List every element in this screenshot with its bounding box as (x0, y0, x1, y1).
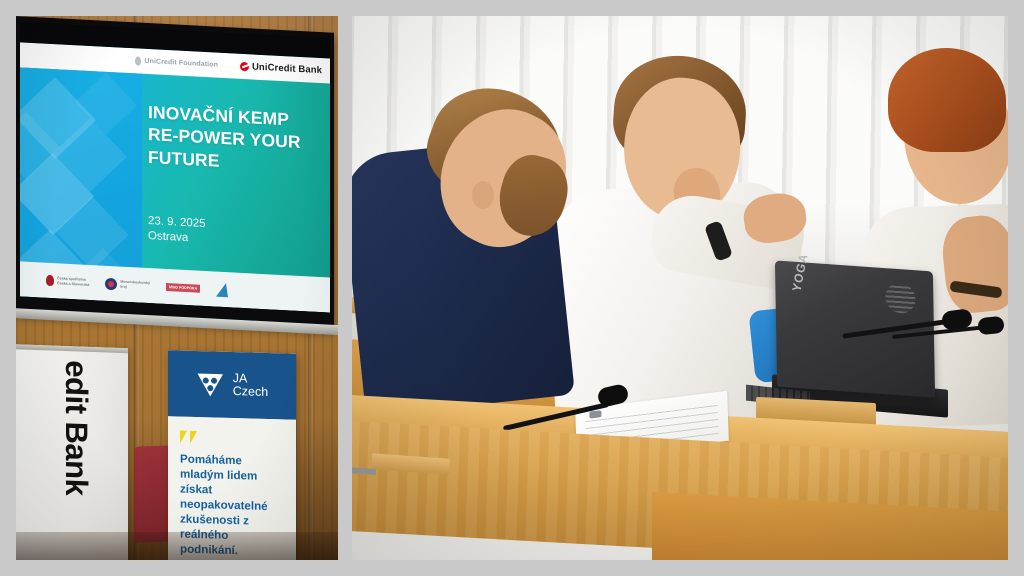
quote-open-icon (180, 431, 285, 447)
foundation-mark-icon (135, 56, 141, 65)
projection-screen: UniCredit Foundation UniCredit Bank (16, 16, 334, 329)
ja-czech-logo-icon (196, 370, 226, 399)
unicredit-foundation-logo: UniCredit Foundation (135, 56, 218, 69)
presentation-slide: UniCredit Foundation UniCredit Bank (20, 42, 330, 312)
desk-microphone[interactable] (502, 382, 632, 432)
desk-microphone[interactable] (892, 312, 1008, 356)
circle-mark-icon (105, 277, 117, 290)
ja-czech-line-2: Czech (233, 384, 268, 399)
microphone-boom (503, 402, 609, 431)
shield-icon (46, 275, 54, 286)
foundation-logo-text: UniCredit Foundation (144, 58, 218, 69)
unicredit-mark-icon (240, 62, 249, 71)
microphone-capsule (977, 316, 1005, 336)
photo-students-at-desk: YOGA (352, 16, 1008, 560)
banner-unicredit-text: edit Bank (58, 360, 94, 496)
partner-logo-4 (216, 282, 228, 297)
slide-partner-logos: Česká spořitelna Česká a Slovenská Morav… (20, 261, 330, 312)
student-1-ear (472, 181, 494, 209)
partner-logo-1-text: Česká spořitelna Česká a Slovenská (57, 276, 89, 287)
triangle-mark-icon (216, 282, 228, 297)
projection-screen-surface: UniCredit Foundation UniCredit Bank (20, 22, 330, 312)
ja-czech-header: JACzech (168, 350, 296, 420)
slide-location: Ostrava (148, 230, 188, 244)
banner-unicredit-bank: edit Bank (16, 344, 128, 560)
microphone-capsule (596, 383, 630, 408)
floor-shadow (16, 532, 338, 560)
partner-logo-3-text: MSID PODPORA (169, 285, 197, 290)
slide-title: INOVAČNÍ KEMP RE-POWER YOUR FUTURE (148, 101, 318, 177)
partner-logo-3: MSID PODPORA (166, 282, 200, 292)
bank-logo-text: UniCredit Bank (252, 61, 322, 76)
collage-canvas: UniCredit Foundation UniCredit Bank (0, 0, 1024, 576)
partner-logo-2: Moravskoslezský kraj (105, 277, 150, 291)
microphone-boom (892, 325, 988, 339)
student-3-hair (888, 48, 1006, 152)
partner-logo-1: Česká spořitelna Česká a Slovenská (46, 275, 89, 288)
unicredit-bank-logo: UniCredit Bank (240, 61, 322, 76)
photo-presentation-slide: UniCredit Foundation UniCredit Bank (16, 16, 338, 560)
ja-czech-line-1: JA (233, 371, 248, 385)
ja-czech-wordmark: JACzech (233, 372, 268, 400)
banner-ja-czech: JACzech Pomáháme mladým lidem získat neo… (168, 350, 296, 560)
partner-logo-2-text: Moravskoslezský kraj (120, 279, 150, 290)
